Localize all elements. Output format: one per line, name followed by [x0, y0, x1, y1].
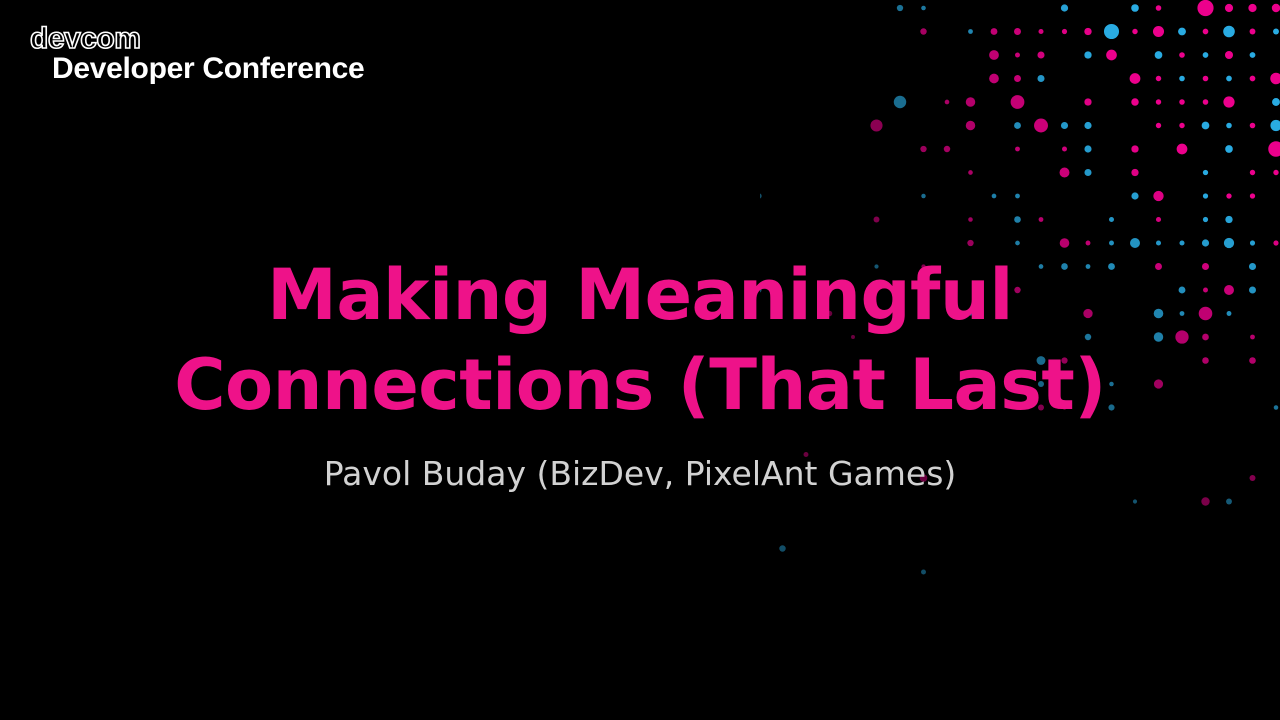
logo-developer-conference-text: Developer Conference [52, 52, 364, 85]
presentation-slide: devcom Developer Conference Making Meani… [0, 0, 1280, 720]
logo-devcom-text: devcom [30, 22, 140, 55]
speaker-byline: Pavol Buday (BizDev, PixelAnt Games) [0, 430, 1280, 494]
slide-center-block: Making Meaningful Connections (That Last… [0, 250, 1280, 494]
page-title: Making Meaningful Connections (That Last… [0, 250, 1280, 430]
devcom-logo: devcom Developer Conference [28, 22, 448, 92]
